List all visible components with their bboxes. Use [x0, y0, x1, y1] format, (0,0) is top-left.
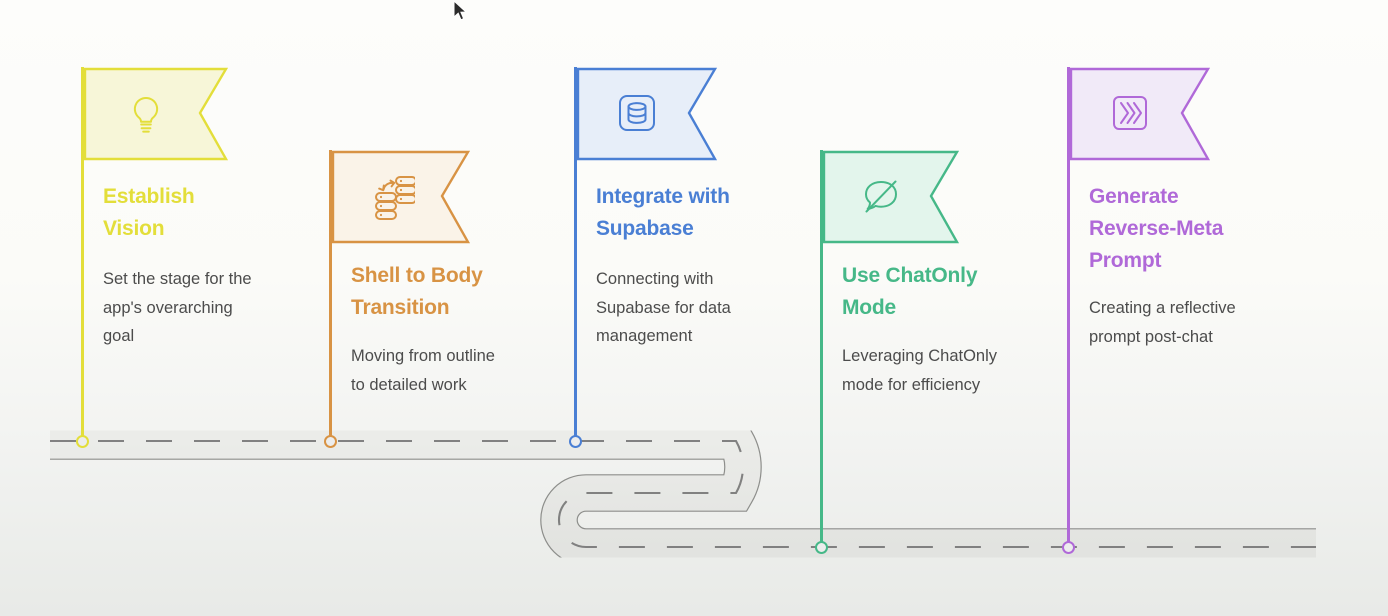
flag-banner[interactable]	[332, 150, 472, 249]
road-marker-establish-vision[interactable]	[76, 435, 89, 448]
road-marker-shell-to-body-transition[interactable]	[324, 435, 337, 448]
milestone-description: Creating a reflective prompt post-chat	[1089, 294, 1289, 351]
milestone-description: Moving from outline to detailed work	[351, 342, 551, 399]
milestone-title: Integrate with Supabase	[596, 181, 796, 245]
milestone-description: Connecting with Supabase for data manage…	[596, 265, 796, 351]
milestone-title: Establish Vision	[103, 181, 303, 245]
milestone-title: Shell to Body Transition	[351, 260, 551, 324]
milestone-description: Leveraging ChatOnly mode for efficiency	[842, 342, 1042, 399]
road-marker-use-chatonly-mode[interactable]	[815, 541, 828, 554]
flag-banner[interactable]	[84, 67, 230, 166]
mouse-pointer-icon	[452, 0, 470, 24]
flag-banner[interactable]	[577, 67, 719, 166]
flag-banner[interactable]	[823, 150, 961, 249]
milestone-title: Generate Reverse-Meta Prompt	[1089, 181, 1289, 277]
milestone-description: Set the stage for the app's overarching …	[103, 265, 303, 351]
road-body	[50, 441, 1316, 547]
road-marker-generate-reverse-meta-prompt[interactable]	[1062, 541, 1075, 554]
roadmap-canvas: Establish VisionSet the stage for the ap…	[0, 0, 1388, 616]
flag-banner[interactable]	[1070, 67, 1212, 166]
milestone-title: Use ChatOnly Mode	[842, 260, 1042, 324]
road-marker-integrate-with-supabase[interactable]	[569, 435, 582, 448]
